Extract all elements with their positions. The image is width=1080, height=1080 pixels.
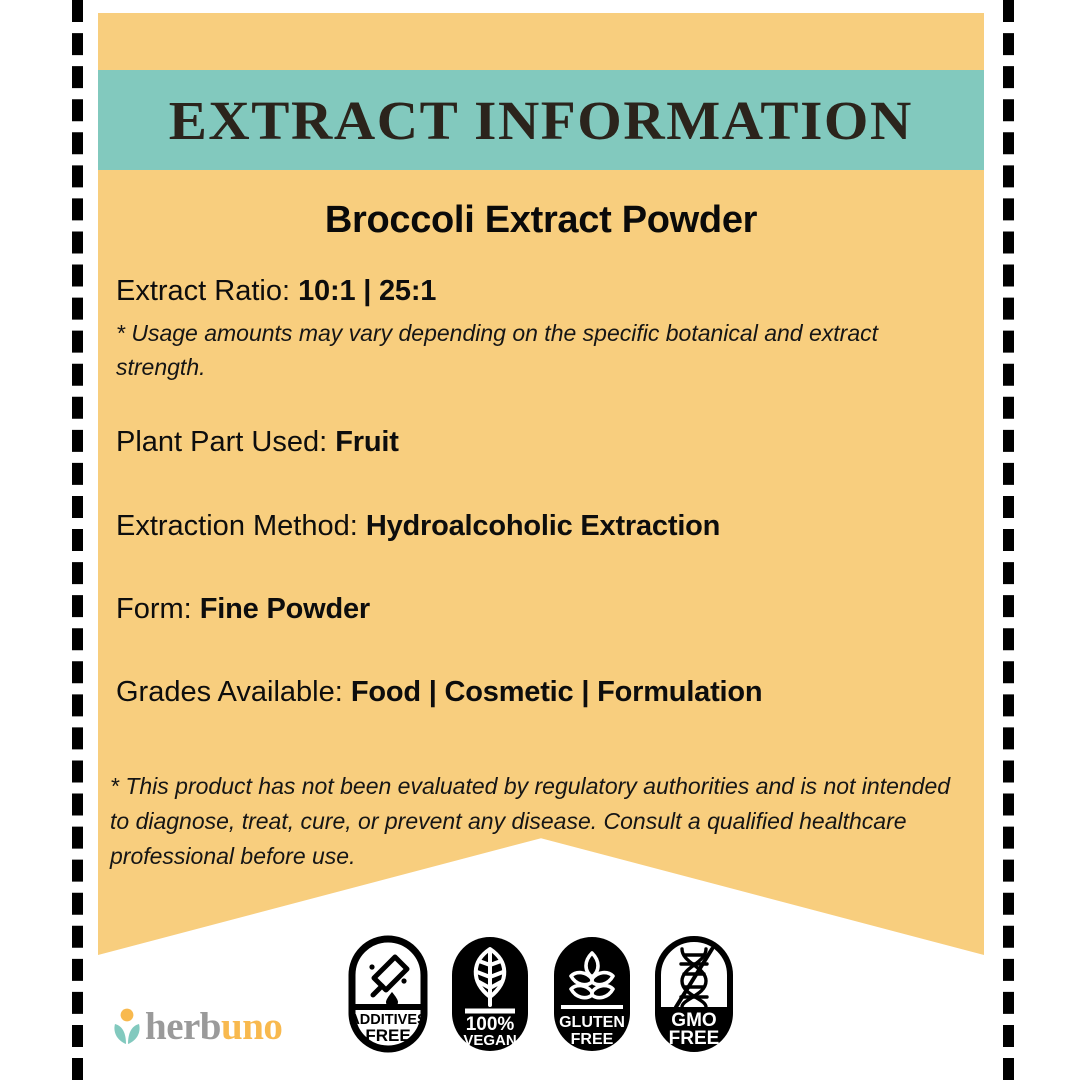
badge-line2: FREE (669, 1028, 720, 1049)
logo-text-uno: uno (221, 1007, 282, 1046)
sun-dot-icon (121, 1009, 134, 1022)
spacer (116, 626, 974, 676)
extract-information-card: EXTRACT INFORMATION Broccoli Extract Pow… (0, 0, 1080, 1080)
spacer (116, 384, 974, 426)
spec-value: Hydroalcoholic Extraction (366, 510, 720, 542)
badge-gmo-free: GMO FREE (654, 935, 734, 1053)
spec-value: 10:1 | 25:1 (298, 275, 436, 307)
spec-label: Grades Available: (116, 676, 351, 708)
product-name: Broccoli Extract Powder (98, 199, 984, 242)
brand-logo: herbuno (110, 1003, 282, 1049)
spec-label: Extract Ratio: (116, 275, 298, 307)
spec-value: Fruit (335, 426, 398, 458)
leaf-right-icon (128, 1024, 140, 1044)
badge-line2: VEGAN (463, 1032, 516, 1049)
sprout-icon (110, 1006, 144, 1046)
leaf-left-icon (114, 1024, 126, 1044)
badge-additives-free: ADDITIVES FREE (348, 935, 428, 1053)
spacer (116, 543, 974, 593)
badge-line1: GLUTEN (559, 1014, 625, 1031)
legal-disclaimer: * This product has not been evaluated by… (110, 769, 962, 874)
spec-label: Extraction Method: (116, 510, 366, 542)
title-banner: EXTRACT INFORMATION (98, 70, 984, 170)
dashed-border-left (72, 0, 83, 1080)
info-panel: EXTRACT INFORMATION Broccoli Extract Pow… (98, 13, 984, 955)
page-title: EXTRACT INFORMATION (169, 93, 913, 148)
spec-value: Food | Cosmetic | Formulation (351, 676, 763, 708)
badge-gluten-free: GLUTEN FREE (552, 935, 632, 1053)
badge-line2: FREE (365, 1026, 410, 1045)
ratio-note: * Usage amounts may vary depending on th… (116, 316, 946, 384)
spec-label: Form: (116, 593, 200, 625)
spec-row-extraction-method: Extraction Method: Hydroalcoholic Extrac… (116, 510, 974, 543)
dashed-border-right (1003, 0, 1014, 1080)
logo-text-herb: herb (145, 1007, 221, 1046)
badge-100-vegan: 100% VEGAN (450, 935, 530, 1053)
spec-list: Extract Ratio: 10:1 | 25:1 * Usage amoun… (116, 275, 974, 710)
spec-row-grades-available: Grades Available: Food | Cosmetic | Form… (116, 676, 974, 709)
badge-line2: FREE (571, 1031, 614, 1048)
spacer (116, 460, 974, 510)
spec-row-extract-ratio: Extract Ratio: 10:1 | 25:1 (116, 275, 974, 308)
certification-badges: ADDITIVES FREE 100% VEGAN (348, 935, 748, 1055)
spec-row-form: Form: Fine Powder (116, 593, 974, 626)
spec-row-plant-part-used: Plant Part Used: Fruit (116, 426, 974, 459)
spec-value: Fine Powder (200, 593, 370, 625)
spec-label: Plant Part Used: (116, 426, 335, 458)
